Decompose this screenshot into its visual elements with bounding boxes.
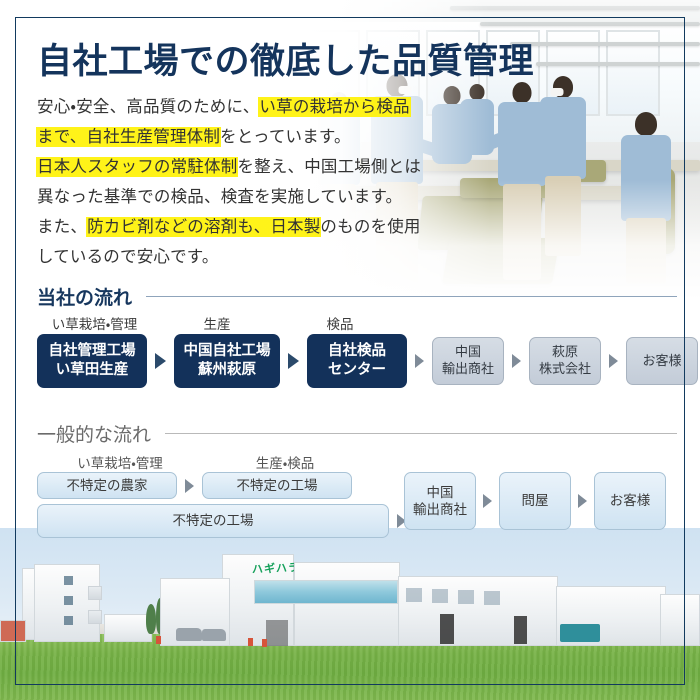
highlighted-text: い草の栽培から検品 [259, 98, 409, 116]
flow-step-box: 不特定の工場 [37, 504, 389, 538]
flow-step-box: 自社管理工場 い草田生産 [37, 334, 147, 388]
body-copy-line: しているので安心です。 [37, 242, 467, 272]
window [406, 588, 422, 602]
body-copy-line: 安心・安全、高品質のために、い草の栽培から検品 [37, 92, 467, 122]
flow-caption: い草栽培・管理 [37, 313, 152, 333]
flow-caption: い草栽培・管理 [55, 452, 185, 472]
flow-step-box: お客様 [626, 337, 698, 385]
plain-text: 異なった基準での検品、検査を実施しています。 [37, 188, 402, 206]
heading-rule [165, 433, 677, 434]
window [432, 589, 448, 603]
glass-curtain-wall [254, 580, 398, 604]
flow-caption: 生産 [163, 313, 271, 333]
warehouse-section [398, 576, 558, 646]
flow-step-box: 中国 輸出商社 [404, 472, 476, 530]
plain-text: また、 [37, 218, 87, 236]
window [88, 586, 102, 600]
flow-arrow-icon [288, 353, 299, 369]
warehouse-section [660, 594, 700, 646]
flow-arrow-icon [415, 354, 424, 368]
flow-arrow-icon [609, 354, 618, 368]
flow-arrow-icon [512, 354, 521, 368]
plain-text: をとっています。 [220, 128, 351, 146]
loading-dock [440, 614, 454, 644]
traffic-cone [156, 636, 161, 644]
body-copy-line: また、防カビ剤などの溶剤も、日本製のものを使用 [37, 212, 467, 242]
heading-rule [146, 296, 677, 297]
section-title-general-flow: 一般的な流れ [37, 420, 151, 447]
flow-step-box: 自社検品 センター [307, 334, 407, 388]
plain-text: を整え、中国工場側とは [237, 158, 421, 176]
traffic-cone [248, 638, 253, 646]
factory-main-hall [294, 562, 400, 646]
general-flow-top-row: 不特定の農家不特定の工場 [37, 472, 352, 499]
entrance [266, 620, 288, 646]
section-title-own-flow: 当社の流れ [37, 283, 132, 310]
general-flow-tail-row: 中国 輸出商社問屋お客様 [404, 472, 666, 530]
flow-caption: 検品 [289, 313, 391, 333]
company-sign: ハギハラ [252, 559, 300, 577]
body-copy-line: まで、自社生産管理体制をとっています。 [37, 122, 467, 152]
flow-step-box: 不特定の農家 [37, 472, 177, 499]
infographic-canvas: ハギハラ 自社工場での徹底した品質管理 安心・安全、高品質のために、い草の栽培か… [0, 0, 700, 700]
truck [560, 624, 600, 642]
ceiling-beam [536, 62, 700, 66]
plain-text: のものを使用 [320, 218, 420, 236]
plain-text: しているので安心です。 [37, 248, 219, 266]
section-heading-general-flow: 一般的な流れ [37, 420, 677, 447]
flow-step-box: 中国自社工場 蘇州萩原 [174, 334, 280, 388]
car [176, 628, 202, 641]
loading-dock [514, 616, 527, 644]
flow-caption: 生産・検品 [215, 452, 355, 472]
body-copy-line: 日本人スタッフの常駐体制を整え、中国工場側とは [37, 152, 467, 182]
flow-step-box: 問屋 [499, 472, 571, 530]
window [64, 616, 73, 625]
flow-arrow-icon [155, 353, 166, 369]
window [484, 591, 500, 605]
ceiling-beam [510, 42, 700, 46]
plain-text: 安心・安全、高品質のために、 [37, 98, 259, 116]
window [64, 576, 73, 585]
car [202, 629, 226, 641]
body-copy-line: 異なった基準での検品、検査を実施しています。 [37, 182, 467, 212]
bottom-factory-exterior-photo: ハギハラ [0, 528, 700, 700]
flow-arrow-icon [185, 479, 194, 493]
window [88, 610, 102, 624]
flow-step-box: 不特定の工場 [202, 472, 352, 499]
highlighted-text: まで、自社生産管理体制 [37, 128, 220, 146]
general-flow-wide-row: 不特定の工場 [37, 504, 406, 538]
neighbor-house [0, 620, 26, 642]
section-heading-own-flow: 当社の流れ [37, 283, 677, 310]
highlighted-text: 防カビ剤などの溶剤も、日本製 [87, 218, 320, 236]
neighbor-house [104, 614, 152, 642]
traffic-cone [262, 639, 267, 647]
flow-step-box: 中国 輸出商社 [432, 337, 504, 385]
flow-arrow-icon [483, 494, 492, 508]
window [458, 590, 474, 604]
window [64, 596, 73, 605]
tree [146, 604, 156, 634]
flow-step-box: お客様 [594, 472, 666, 530]
body-copy: 安心・安全、高品質のために、い草の栽培から検品まで、自社生産管理体制をとっていま… [37, 92, 467, 272]
flow-arrow-icon [578, 494, 587, 508]
highlighted-text: 日本人スタッフの常駐体制 [37, 158, 237, 176]
flow-step-box: 萩原 株式会社 [529, 337, 601, 385]
own-flow-row: 自社管理工場 い草田生産中国自社工場 蘇州萩原自社検品 センター中国 輸出商社萩… [37, 334, 698, 388]
page-title: 自社工場での徹底した品質管理 [37, 33, 534, 84]
